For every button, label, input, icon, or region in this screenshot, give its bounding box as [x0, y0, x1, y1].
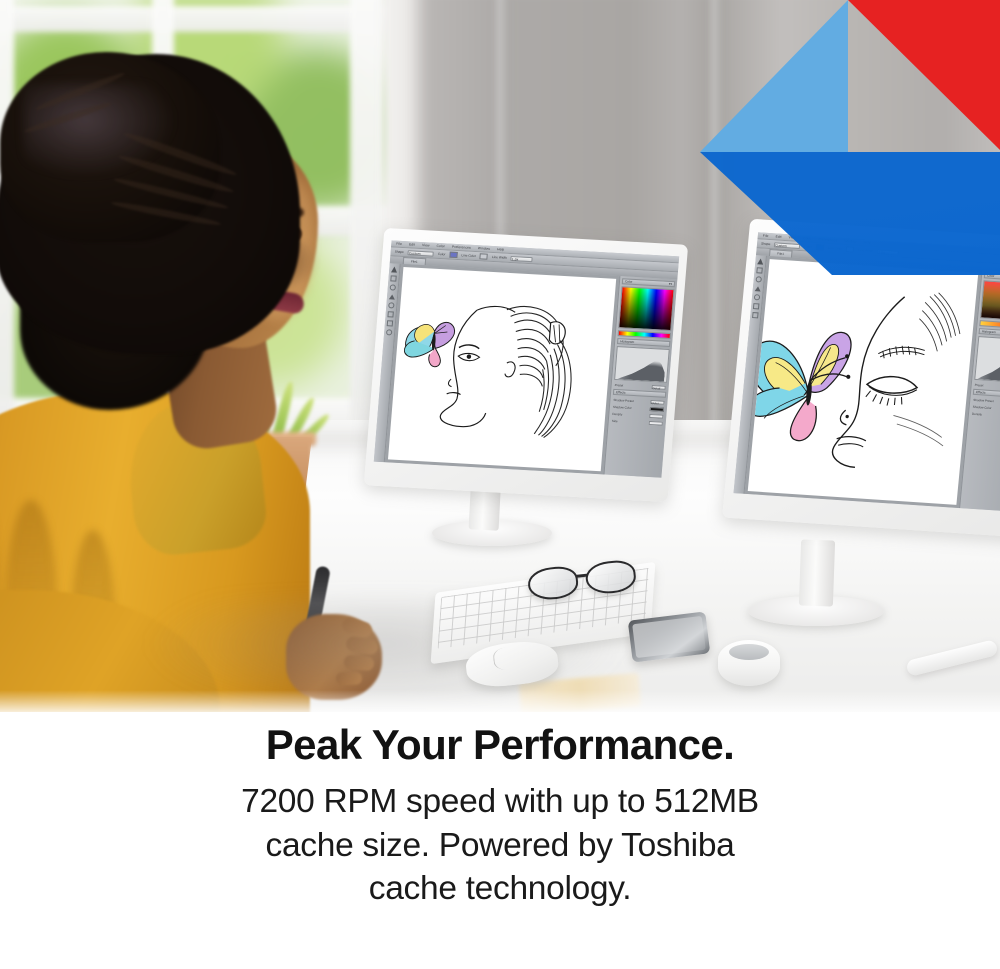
eyeglass-lens-left [527, 565, 580, 602]
wall-seam [712, 0, 722, 490]
cup[interactable] [718, 640, 780, 686]
color-picker-field[interactable] [980, 280, 1000, 321]
shadow-color-label: Shadow Color [613, 404, 632, 409]
color-panel-title: Color [987, 274, 995, 278]
menu-edit[interactable]: Edit [775, 234, 781, 238]
density-label: Density [612, 411, 622, 416]
line-width-label: Line Width [492, 255, 507, 260]
crop-tool-icon[interactable] [753, 303, 760, 309]
menu-window[interactable]: Window [844, 239, 857, 244]
effects-panel-title: Effects [976, 390, 986, 395]
sketch-butterfly-portrait-ponytail [388, 267, 616, 471]
shadow-color-swatch[interactable] [650, 406, 664, 411]
ellipse-tool-icon[interactable] [755, 277, 762, 283]
size-label: Size [612, 418, 618, 422]
move-tool-icon[interactable] [391, 266, 397, 272]
shape-select[interactable]: Custom [408, 250, 434, 256]
menu-help[interactable]: Help [863, 240, 871, 244]
artwork-canvas-left[interactable] [388, 267, 616, 471]
menu-color[interactable]: Color [436, 244, 445, 248]
photo-editor-app-left: File Edit View Color Preferences Window … [374, 240, 679, 477]
color-panel-title: Color [625, 279, 633, 283]
line-width-input[interactable]: 1 px [877, 249, 899, 255]
monitor-left[interactable]: File Edit View Color Preferences Window … [364, 228, 688, 502]
histogram-graph [974, 336, 1000, 383]
preset-select[interactable]: Detail [652, 385, 666, 390]
histogram-panel-title: Histogram [620, 339, 634, 344]
color-picker-field[interactable] [618, 286, 674, 331]
subcopy-line-2: cache size. Powered by Toshiba [0, 824, 1000, 868]
line-color-label: Line Color [461, 253, 476, 258]
headline: Peak Your Performance. [0, 722, 1000, 768]
hero-photograph: File Edit View Color Preferences Window … [0, 0, 1000, 712]
shape-label: Shape [761, 241, 771, 246]
line-color-swatch[interactable] [480, 254, 488, 260]
shape-select[interactable]: Custom [774, 242, 800, 249]
menu-file[interactable]: File [763, 234, 769, 238]
size-input[interactable] [649, 420, 663, 425]
effects-panel-title: Effects [616, 390, 626, 395]
effect-row[interactable]: Density [971, 411, 1000, 419]
canvas-area[interactable] [385, 264, 620, 475]
monitor-right[interactable]: File Edit View Color Preferences Window … [722, 219, 1000, 538]
photo-editor-app-right: File Edit View Color Preferences Window … [733, 232, 1000, 512]
brush-tool-icon[interactable] [752, 312, 759, 318]
menu-help[interactable]: Help [497, 247, 504, 251]
eyeglass-lens-right [584, 559, 637, 596]
histogram-panel-title: Histogram [982, 329, 996, 334]
line-width-label: Line Width [858, 248, 873, 253]
rectangle-tool-icon[interactable] [390, 276, 396, 282]
sketch-butterfly-portrait-closeup [748, 259, 979, 505]
shadow-color-label: Shadow Color [973, 404, 992, 409]
shadow-preset-label: Shadow Preset [973, 397, 994, 402]
effect-row[interactable]: Size [611, 418, 664, 426]
window-frame-horizontal [0, 6, 400, 32]
canvas-area[interactable] [744, 256, 981, 508]
menu-window[interactable]: Window [478, 246, 491, 251]
density-input[interactable] [649, 413, 663, 418]
polygon-tool-icon[interactable] [755, 286, 761, 291]
marketing-text-block: Peak Your Performance. 7200 RPM speed wi… [0, 712, 1000, 969]
density-label: Density [972, 411, 982, 416]
menu-preferences[interactable]: Preferences [452, 245, 471, 250]
menu-view[interactable]: View [422, 243, 430, 247]
product-marketing-image: File Edit View Color Preferences Window … [0, 0, 1000, 969]
lasso-tool-icon[interactable] [754, 294, 761, 300]
workspace: Color Histogram Preset Detail [733, 255, 1000, 512]
menu-preferences[interactable]: Preferences [818, 237, 837, 242]
monitor-left-screen[interactable]: File Edit View Color Preferences Window … [374, 240, 679, 477]
workspace: Color ▾▾ Histogram Preset Detai [374, 263, 678, 477]
menu-view[interactable]: View [788, 235, 796, 239]
panel-collapse-icon[interactable]: ▾▾ [669, 282, 672, 286]
shadow-preset-select[interactable]: Outer [650, 400, 664, 405]
rectangle-tool-icon[interactable] [756, 267, 763, 273]
monitor-right-stand-neck [799, 539, 835, 606]
photo-bottom-fade [0, 690, 1000, 712]
shape-label: Shape [395, 250, 405, 255]
subcopy-line-1: 7200 RPM speed with up to 512MB [0, 780, 1000, 824]
ellipse-tool-icon[interactable] [390, 285, 396, 291]
color-swatch[interactable] [449, 252, 457, 258]
preset-label: Preset [975, 382, 984, 387]
preset-label: Preset [615, 382, 624, 386]
menu-color[interactable]: Color [803, 236, 812, 241]
line-width-input[interactable]: 1 px [511, 256, 533, 262]
color-swatch[interactable] [816, 244, 825, 250]
color-label: Color [804, 244, 812, 248]
shadow-preset-label: Shadow Preset [613, 397, 634, 402]
subcopy: 7200 RPM speed with up to 512MB cache si… [0, 780, 1000, 911]
line-color-swatch[interactable] [846, 246, 855, 252]
monitor-right-screen[interactable]: File Edit View Color Preferences Window … [733, 232, 1000, 512]
menu-edit[interactable]: Edit [409, 242, 415, 246]
menu-file[interactable]: File [396, 242, 402, 246]
histogram-graph [614, 346, 670, 383]
color-label: Color [438, 252, 446, 256]
artwork-canvas-right[interactable] [748, 259, 979, 505]
line-color-label: Line Color [828, 246, 843, 251]
subcopy-line-3: cache technology. [0, 867, 1000, 911]
move-tool-icon[interactable] [757, 258, 764, 264]
